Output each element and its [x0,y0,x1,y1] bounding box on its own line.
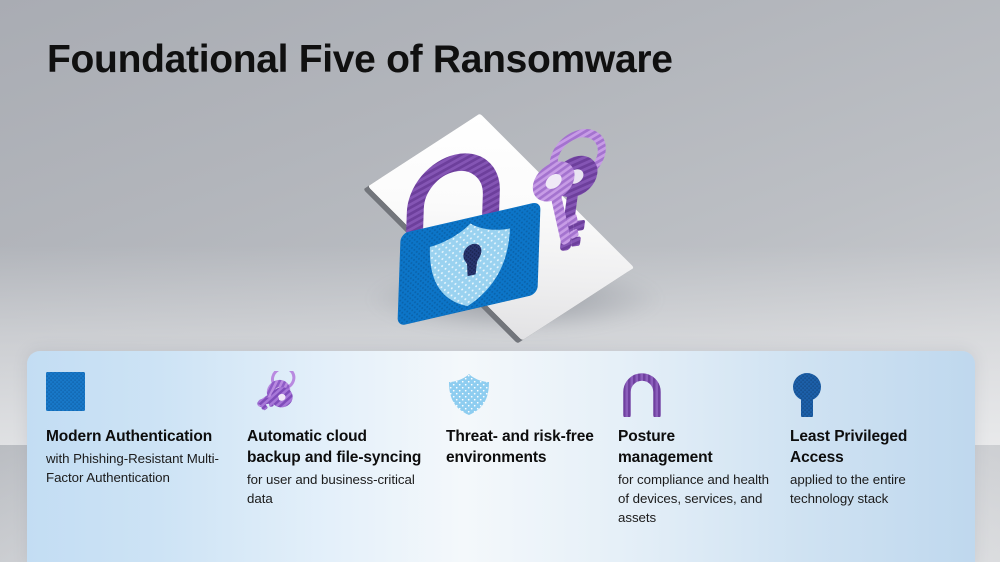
pillar-title: Posture management [618,426,773,468]
slide-canvas: Foundational Five of Ransomware [0,0,1000,562]
square-icon [46,371,224,417]
pillar-automatic-cloud-backup: Automatic cloud backup and file-syncing … [247,371,422,509]
pillar-modern-authentication: Modern Authentication with Phishing-Resi… [46,371,224,488]
pillar-title: Automatic cloud backup and file-syncing [247,426,422,468]
pillar-threat-and-risk-free: Threat- and risk-free environments [446,371,606,471]
pillars-panel: Modern Authentication with Phishing-Resi… [27,351,975,562]
pillar-subtitle: for compliance and health of devices, se… [618,471,773,528]
pillar-title: Least Privileged Access [790,426,955,468]
keys-icon [247,371,422,417]
pillar-title: Threat- and risk-free environments [446,426,606,468]
lock-keys-shape [527,126,612,265]
pillar-least-privileged-access: Least Privileged Access applied to the e… [790,371,955,509]
keyhole-icon [790,371,955,417]
shield-icon [446,371,606,417]
hero-illustration [280,104,720,344]
pillar-subtitle: applied to the entire technology stack [790,471,955,509]
arch-shackle-icon [618,371,773,417]
pillar-title: Modern Authentication [46,426,224,447]
pillar-subtitle: for user and business-critical data [247,471,422,509]
page-title: Foundational Five of Ransomware [47,38,673,82]
pillar-posture-management: Posture management for compliance and he… [618,371,773,528]
pillar-subtitle: with Phishing-Resistant Multi-Factor Aut… [46,450,224,488]
